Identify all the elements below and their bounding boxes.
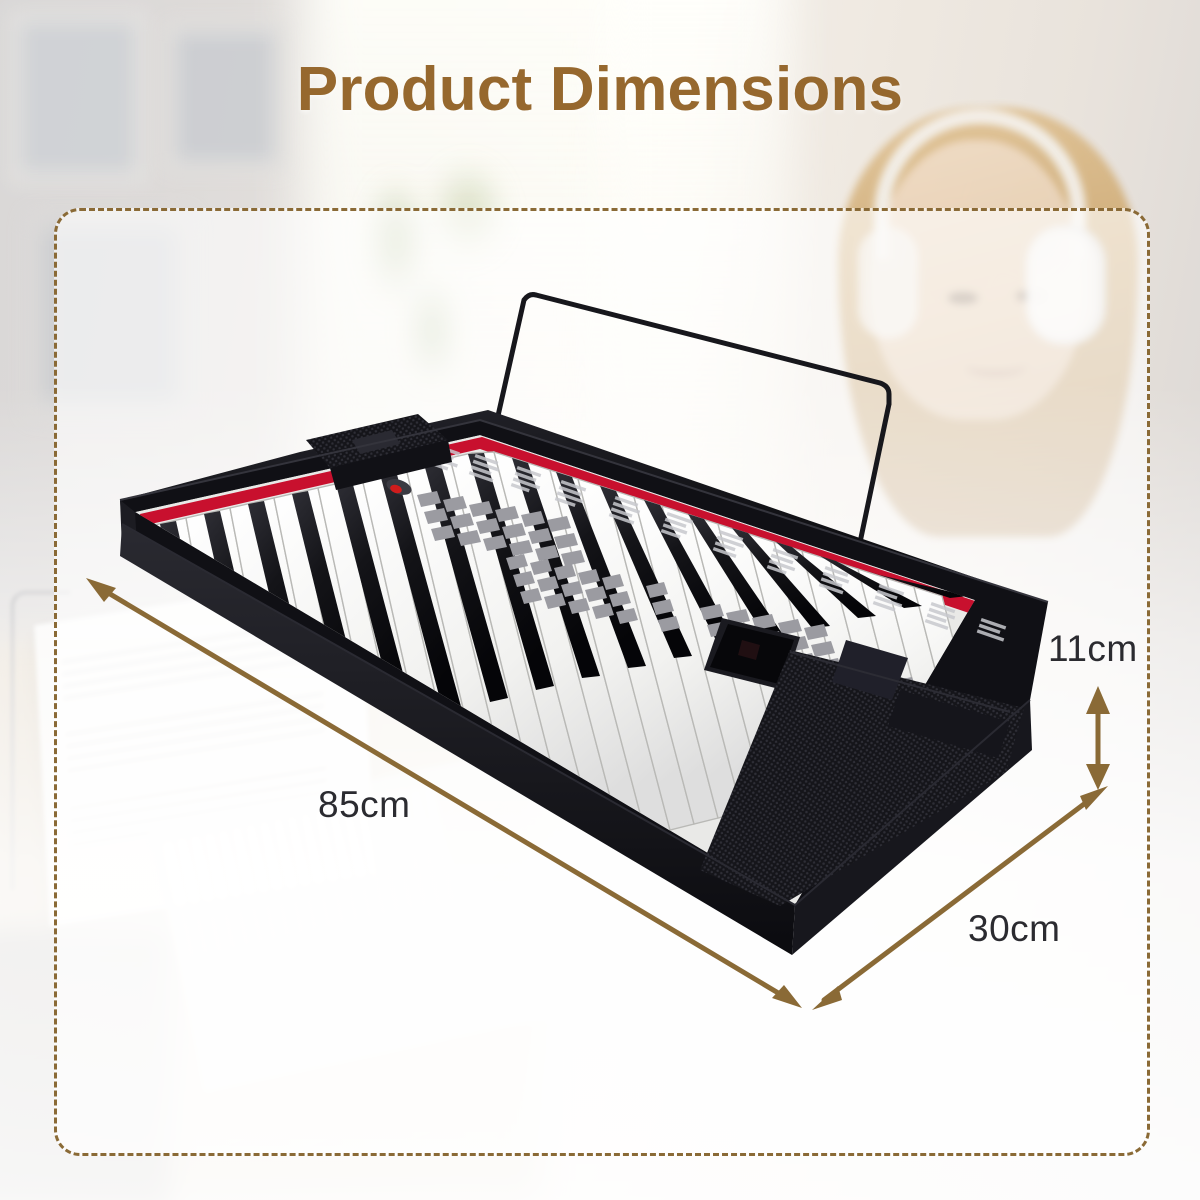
product-illustration xyxy=(0,0,1200,1200)
dimension-arrow-height xyxy=(1086,686,1110,790)
infographic-canvas: Product Dimensions xyxy=(0,0,1200,1200)
